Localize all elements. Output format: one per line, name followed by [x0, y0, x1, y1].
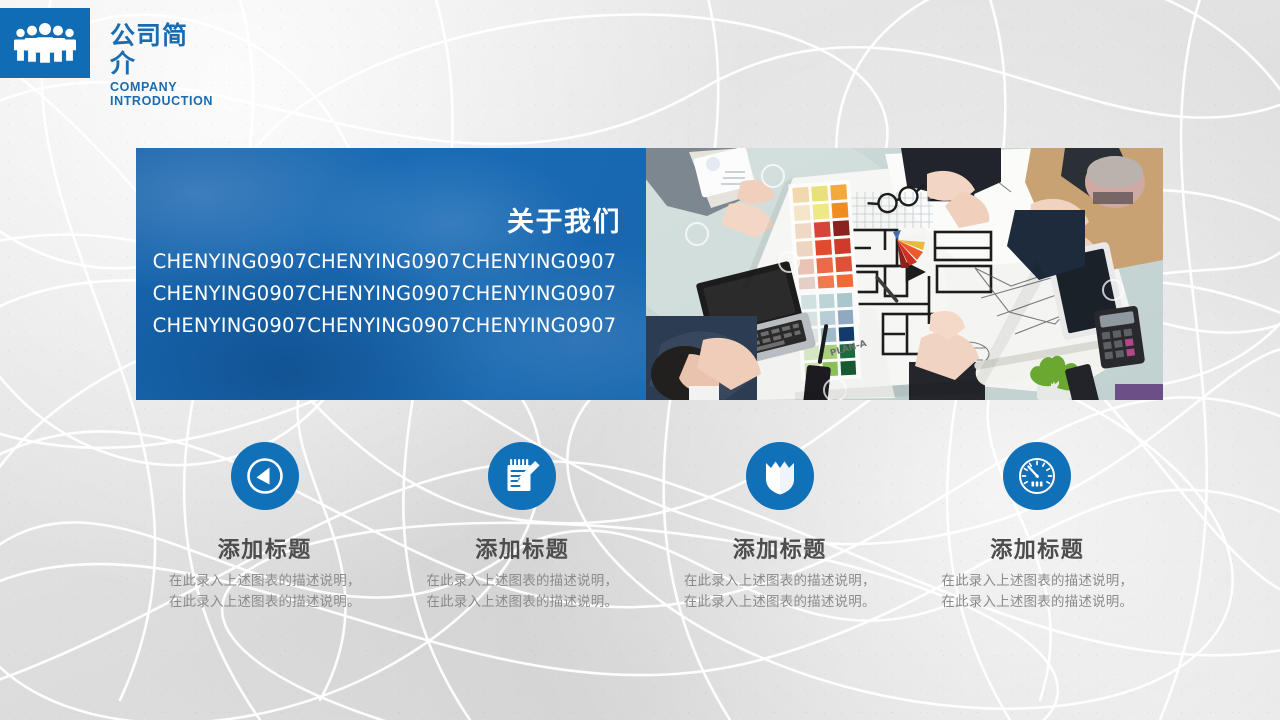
feature-card-description: 在此录入上述图表的描述说明，在此录入上述图表的描述说明。 — [941, 571, 1133, 613]
about-us-text-panel: 关于我们 CHENYING0907CHENYING0907CHENYING090… — [136, 148, 646, 400]
logo-badge — [0, 8, 90, 78]
feature-card-title: 添加标题 — [990, 532, 1084, 564]
panel-heading: 关于我们 — [507, 200, 621, 239]
page-title-en: COMPANY INTRODUCTION — [110, 80, 213, 108]
play-triangle-in-circle-icon[interactable] — [231, 442, 299, 510]
about-us-banner: PLAN-A 关于我们 CHENYING0907CHENYING0907CHEN… — [136, 148, 1163, 400]
feature-card-description: 在此录入上述图表的描述说明，在此录入上述图表的描述说明。 — [426, 571, 618, 613]
feature-card[interactable]: 添加标题 在此录入上述图表的描述说明，在此录入上述图表的描述说明。 — [136, 442, 394, 642]
feature-card-description: 在此录入上述图表的描述说明，在此录入上述图表的描述说明。 — [684, 571, 876, 613]
feature-card-description: 在此录入上述图表的描述说明，在此录入上述图表的描述说明。 — [169, 571, 361, 613]
feature-card[interactable]: 添加标题 在此录入上述图表的描述说明，在此录入上述图表的描述说明。 — [394, 442, 652, 642]
page-title-group: 公司简介 COMPANY INTRODUCTION — [110, 22, 213, 108]
notepad-with-pencil-icon[interactable] — [488, 442, 556, 510]
feature-card[interactable]: 添加标题 在此录入上述图表的描述说明，在此录入上述图表的描述说明。 — [909, 442, 1167, 642]
clock-gauge-icon[interactable] — [1003, 442, 1071, 510]
panel-body-line: CHENYING0907CHENYING0907CHENYING0907 — [136, 310, 633, 342]
feature-card-title: 添加标题 — [475, 532, 569, 564]
panel-body-line: CHENYING0907CHENYING0907CHENYING0907 — [136, 278, 633, 310]
feature-card[interactable]: 添加标题 在此录入上述图表的描述说明，在此录入上述图表的描述说明。 — [651, 442, 909, 642]
crown-shield-icon[interactable] — [746, 442, 814, 510]
panel-body-line: CHENYING0907CHENYING0907CHENYING0907 — [136, 246, 633, 278]
feature-card-title: 添加标题 — [733, 532, 827, 564]
slide-canvas: 公司简介 COMPANY INTRODUCTION — [0, 0, 1280, 720]
team-meeting-photo: PLAN-A — [645, 148, 1163, 400]
group-of-people-icon — [14, 23, 76, 63]
feature-cards-row: 添加标题 在此录入上述图表的描述说明，在此录入上述图表的描述说明。 — [136, 442, 1166, 642]
panel-body-text: CHENYING0907CHENYING0907CHENYING0907 CHE… — [136, 246, 633, 342]
page-title-cn: 公司简介 — [110, 22, 213, 77]
feature-card-title: 添加标题 — [218, 532, 312, 564]
